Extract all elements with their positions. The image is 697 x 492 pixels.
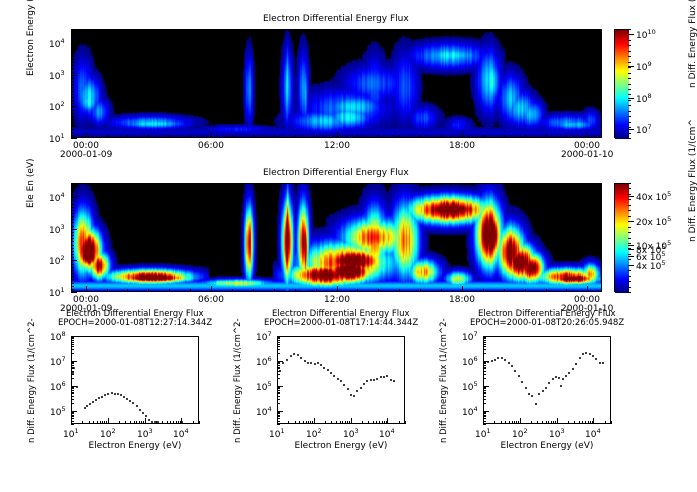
tick-mark — [71, 37, 74, 38]
tick-mark — [71, 200, 74, 201]
tick-mark — [405, 421, 406, 424]
tick-mark — [336, 421, 337, 424]
tick-mark — [71, 232, 74, 233]
tick-mark — [505, 421, 506, 424]
tick-mark — [347, 421, 348, 424]
spectrum-ytick-label: 106 — [50, 380, 66, 393]
data-point — [602, 362, 604, 364]
tick-mark — [170, 421, 171, 424]
data-point — [552, 378, 554, 380]
data-point — [373, 379, 375, 381]
tick-mark — [71, 416, 74, 417]
colorbar-tick-label: 108 — [636, 92, 652, 105]
tick-mark — [178, 421, 179, 424]
xtick-date-label: 2000-01-10 — [561, 150, 613, 160]
tick-mark — [628, 254, 631, 255]
xtick-label: 06:00 — [198, 295, 224, 305]
tick-mark — [71, 219, 74, 220]
data-point — [92, 401, 94, 403]
tick-mark — [169, 289, 170, 292]
tick-mark — [520, 418, 521, 424]
tick-mark — [483, 368, 486, 369]
tick-mark — [537, 421, 538, 424]
tick-mark — [628, 122, 631, 123]
tick-mark — [130, 421, 131, 424]
spectrum-xtick-label: 104 — [379, 427, 395, 440]
tick-mark — [628, 216, 631, 217]
tick-mark — [71, 132, 74, 133]
tick-mark — [628, 249, 634, 250]
tick-mark — [71, 191, 74, 192]
tick-mark — [71, 197, 77, 198]
tick-mark — [546, 135, 547, 138]
tick-mark — [71, 267, 74, 268]
tick-mark — [342, 421, 343, 424]
data-point — [300, 357, 302, 359]
tick-mark — [483, 412, 486, 413]
tick-mark — [345, 421, 346, 424]
tick-mark — [628, 78, 631, 79]
tick-mark — [628, 138, 631, 139]
tick-mark — [71, 204, 74, 205]
tick-mark — [71, 254, 74, 255]
tick-mark — [71, 390, 74, 391]
tick-mark — [71, 279, 74, 280]
ytick-label: 101 — [49, 286, 65, 299]
tick-mark — [546, 421, 547, 424]
tick-mark — [71, 216, 74, 217]
tick-mark — [483, 367, 486, 368]
colorbar-tick-label: 20x 105 — [636, 215, 671, 228]
tick-mark — [106, 421, 107, 424]
tick-mark — [71, 396, 74, 397]
spectrum-ytick-label: 105 — [462, 380, 478, 393]
tick-mark — [483, 418, 484, 424]
tick-mark — [253, 135, 254, 138]
spectrum-ytick-label: 107 — [50, 355, 66, 368]
tick-mark — [277, 374, 280, 375]
tick-mark — [71, 344, 74, 345]
tick-mark — [628, 183, 631, 184]
tick-mark — [277, 387, 280, 388]
tick-mark — [277, 386, 283, 387]
tick-mark — [483, 353, 486, 354]
panel-middle-title: Electron Differential Energy Flux — [263, 168, 409, 178]
data-point — [589, 353, 591, 355]
tick-mark — [557, 418, 558, 424]
tick-mark — [628, 243, 631, 244]
data-point — [535, 403, 537, 405]
spectrum-ylabel: n Diff. Energy Flux (1/(cm^2- — [27, 318, 37, 443]
tick-mark — [494, 421, 495, 424]
tick-mark — [71, 113, 74, 114]
tick-mark — [71, 365, 74, 366]
tick-mark — [512, 421, 513, 424]
tick-mark — [483, 416, 486, 417]
tick-mark — [525, 289, 526, 292]
tick-mark — [590, 421, 591, 424]
tick-mark — [277, 403, 280, 404]
xtick-date-label: 2000-01-09 — [60, 150, 112, 160]
tick-mark — [71, 106, 77, 107]
colorbar-tick-label: 1010 — [636, 28, 656, 41]
tick-mark — [628, 205, 631, 206]
tick-mark — [399, 289, 400, 292]
data-point — [353, 395, 355, 397]
tick-mark — [337, 286, 338, 292]
tick-mark — [89, 421, 90, 424]
tick-mark — [483, 342, 486, 343]
data-point — [360, 387, 362, 389]
tick-mark — [588, 421, 589, 424]
tick-mark — [399, 421, 400, 424]
tick-mark — [628, 238, 631, 239]
tick-mark — [316, 289, 317, 292]
tick-mark — [378, 135, 379, 138]
tick-mark — [351, 418, 352, 424]
tick-mark — [483, 344, 486, 345]
tick-mark — [71, 129, 74, 130]
tick-mark — [277, 338, 280, 339]
tick-mark — [628, 29, 631, 30]
tick-mark — [501, 421, 502, 424]
tick-mark — [514, 421, 515, 424]
panel-top-colorbar-label: n Diff. Energy Flux (1/(cm^ — [688, 0, 697, 88]
spectrum-xtick-label: 102 — [100, 427, 116, 440]
tick-mark — [141, 421, 142, 424]
tick-mark — [611, 421, 612, 424]
tick-mark — [277, 388, 280, 389]
tick-mark — [71, 392, 74, 393]
panel-top-colorbar — [614, 29, 628, 138]
tick-mark — [71, 411, 77, 412]
tick-mark — [274, 135, 275, 138]
data-point — [347, 388, 349, 390]
tick-mark — [71, 387, 74, 388]
tick-mark — [274, 289, 275, 292]
data-point — [508, 362, 510, 364]
tick-mark — [628, 129, 634, 130]
tick-mark — [628, 227, 631, 228]
tick-mark — [71, 361, 77, 362]
tick-mark — [542, 421, 543, 424]
tick-mark — [71, 424, 74, 425]
tick-mark — [628, 100, 631, 101]
tick-mark — [107, 289, 108, 292]
tick-mark — [100, 421, 101, 424]
tick-mark — [277, 411, 283, 412]
tick-mark — [325, 421, 326, 424]
tick-mark — [277, 416, 280, 417]
panel-top-frame — [71, 29, 602, 138]
tick-mark — [104, 421, 105, 424]
tick-mark — [71, 353, 74, 354]
data-point — [393, 380, 395, 382]
data-point — [525, 387, 527, 389]
tick-mark — [628, 199, 631, 200]
tick-mark — [71, 264, 74, 265]
tick-mark — [483, 390, 486, 391]
tick-mark — [162, 421, 163, 424]
tick-mark — [628, 127, 631, 128]
tick-mark — [288, 421, 289, 424]
tick-mark — [568, 421, 569, 424]
tick-mark — [71, 53, 74, 54]
tick-mark — [518, 421, 519, 424]
tick-mark — [628, 221, 634, 222]
tick-mark — [628, 84, 631, 85]
tick-mark — [628, 133, 631, 134]
tick-mark — [119, 421, 120, 424]
figure-root: Electron Differential Energy Flux Electr… — [0, 0, 697, 492]
tick-mark — [71, 110, 74, 111]
tick-mark — [628, 292, 631, 293]
tick-mark — [382, 421, 383, 424]
tick-mark — [108, 418, 109, 424]
xtick-label: 18:00 — [449, 295, 475, 305]
data-point — [286, 359, 288, 361]
tick-mark — [93, 421, 94, 424]
tick-mark — [148, 135, 149, 138]
tick-mark — [628, 51, 631, 52]
tick-mark — [399, 135, 400, 138]
tick-mark — [462, 286, 463, 292]
spectrum-ytick-label: 107 — [462, 330, 478, 343]
tick-mark — [232, 289, 233, 292]
tick-mark — [277, 362, 280, 363]
tick-mark — [169, 135, 170, 138]
xtick-label: 12:00 — [324, 141, 350, 151]
spectrum-xlabel: Electron Energy (eV) — [89, 442, 182, 451]
colorbar-tick-label: 40x 105 — [636, 190, 671, 203]
tick-mark — [176, 421, 177, 424]
tick-mark — [71, 122, 74, 123]
tick-mark — [548, 421, 549, 424]
data-point — [114, 393, 116, 395]
tick-mark — [306, 421, 307, 424]
tick-mark — [531, 421, 532, 424]
tick-mark — [628, 62, 631, 63]
tick-mark — [509, 421, 510, 424]
panel-middle-frame — [71, 183, 602, 292]
spectrum-plot-area — [71, 336, 199, 424]
data-point — [542, 390, 544, 392]
tick-mark — [555, 421, 556, 424]
tick-mark — [145, 418, 146, 424]
tick-mark — [71, 374, 74, 375]
tick-mark — [71, 362, 74, 363]
tick-mark — [253, 289, 254, 292]
spectrum-epoch: EPOCH=2000-01-08T12:27:14.344Z — [58, 319, 212, 328]
tick-mark — [211, 286, 212, 292]
tick-mark — [71, 91, 74, 92]
data-point — [84, 407, 86, 409]
tick-mark — [277, 365, 280, 366]
data-point — [327, 369, 329, 371]
tick-mark — [277, 337, 280, 338]
tick-mark — [628, 89, 631, 90]
tick-mark — [71, 289, 74, 290]
tick-mark — [628, 270, 631, 271]
tick-mark — [71, 413, 74, 414]
xtick-label: 18:00 — [449, 141, 475, 151]
tick-mark — [314, 418, 315, 424]
xtick-label: 06:00 — [198, 141, 224, 151]
tick-mark — [71, 87, 74, 88]
tick-mark — [107, 135, 108, 138]
tick-mark — [277, 399, 280, 400]
panel-middle-colorbar-label: n Diff. Energy Flux (1/(cm^ — [688, 119, 697, 242]
tick-mark — [86, 132, 87, 138]
tick-mark — [376, 421, 377, 424]
spectrum-ytick-label: 104 — [256, 405, 272, 418]
tick-mark — [368, 421, 369, 424]
tick-mark — [628, 210, 631, 211]
tick-mark — [86, 286, 87, 292]
tick-mark — [331, 421, 332, 424]
data-point — [575, 363, 577, 365]
tick-mark — [71, 116, 74, 117]
tick-mark — [71, 378, 74, 379]
tick-mark — [628, 276, 631, 277]
tick-mark — [71, 415, 74, 416]
tick-mark — [143, 421, 144, 424]
tick-mark — [71, 119, 74, 120]
tick-mark — [82, 421, 83, 424]
tick-mark — [277, 424, 280, 425]
ytick-label: 102 — [49, 100, 65, 113]
tick-mark — [71, 59, 74, 60]
data-point — [297, 354, 299, 356]
tick-mark — [605, 421, 606, 424]
data-point — [139, 409, 141, 411]
tick-mark — [71, 188, 74, 189]
ytick-label: 101 — [49, 132, 65, 145]
tick-mark — [97, 421, 98, 424]
tick-mark — [483, 365, 486, 366]
colorbar-tick-label: 109 — [636, 60, 652, 73]
tick-mark — [71, 207, 74, 208]
tick-mark — [71, 245, 74, 246]
tick-mark — [483, 411, 489, 412]
tick-mark — [71, 403, 74, 404]
data-point — [123, 396, 125, 398]
tick-mark — [483, 346, 486, 347]
tick-mark — [420, 135, 421, 138]
tick-mark — [628, 34, 634, 35]
tick-mark — [628, 94, 631, 95]
tick-mark — [628, 188, 631, 189]
data-point — [320, 364, 322, 366]
tick-mark — [628, 281, 631, 282]
tick-mark — [357, 135, 358, 138]
tick-mark — [295, 135, 296, 138]
tick-mark — [312, 421, 313, 424]
tick-mark — [71, 399, 74, 400]
tick-mark — [71, 251, 74, 252]
tick-mark — [71, 388, 74, 389]
tick-mark — [525, 135, 526, 138]
panel-middle-ylabel: Ele En (eV) — [26, 158, 36, 208]
spectrum-ylabel: n Diff. Energy Flux (1/(cm^2- — [233, 318, 243, 443]
tick-mark — [134, 421, 135, 424]
tick-mark — [277, 344, 280, 345]
tick-mark — [71, 222, 74, 223]
tick-mark — [277, 378, 280, 379]
ytick-label: 104 — [49, 191, 65, 204]
tick-mark — [373, 421, 374, 424]
tick-mark — [483, 399, 486, 400]
tick-mark — [483, 337, 486, 338]
tick-mark — [71, 75, 77, 76]
tick-mark — [566, 135, 567, 138]
spectrum-xtick-label: 103 — [343, 427, 359, 440]
tick-mark — [71, 135, 74, 136]
panel-top-ylabel: Electron Energy (eV) — [26, 0, 36, 76]
tick-mark — [71, 94, 74, 95]
tick-mark — [125, 421, 126, 424]
tick-mark — [628, 56, 631, 57]
tick-mark — [587, 132, 588, 138]
tick-mark — [277, 412, 280, 413]
tick-mark — [190, 135, 191, 138]
tick-mark — [277, 353, 280, 354]
tick-mark — [579, 421, 580, 424]
tick-mark — [199, 421, 200, 424]
tick-mark — [71, 349, 74, 350]
tick-mark — [71, 125, 74, 126]
tick-mark — [483, 387, 486, 388]
tick-mark — [71, 260, 77, 261]
data-point — [350, 394, 352, 396]
tick-mark — [483, 135, 484, 138]
tick-mark — [593, 418, 594, 424]
tick-mark — [71, 46, 74, 47]
tick-mark — [546, 289, 547, 292]
tick-mark — [462, 132, 463, 138]
tick-mark — [483, 371, 486, 372]
spectrum-ytick-label: 104 — [462, 405, 478, 418]
tick-mark — [516, 421, 517, 424]
data-point — [494, 359, 496, 361]
data-point — [545, 387, 547, 389]
tick-mark — [71, 270, 74, 271]
tick-mark — [483, 349, 486, 350]
tick-mark — [483, 396, 486, 397]
tick-mark — [71, 336, 77, 337]
data-point — [95, 399, 97, 401]
data-point — [582, 353, 584, 355]
data-point — [518, 375, 520, 377]
tick-mark — [340, 421, 341, 424]
spectrum-epoch: EPOCH=2000-01-08T20:26:05.948Z — [470, 319, 624, 328]
tick-mark — [71, 337, 74, 338]
data-point — [290, 355, 292, 357]
tick-mark — [582, 421, 583, 424]
spectrum-ytick-label: 105 — [256, 380, 272, 393]
tick-mark — [71, 185, 74, 186]
spectrum-xtick-label: 103 — [137, 427, 153, 440]
tick-mark — [71, 62, 74, 63]
tick-mark — [483, 393, 486, 394]
tick-mark — [504, 289, 505, 292]
tick-mark — [483, 388, 486, 389]
data-point — [562, 378, 564, 380]
spectrum-xtick-label: 104 — [585, 427, 601, 440]
tick-mark — [585, 421, 586, 424]
spectrum-ytick-label: 108 — [50, 330, 66, 343]
tick-mark — [628, 105, 631, 106]
